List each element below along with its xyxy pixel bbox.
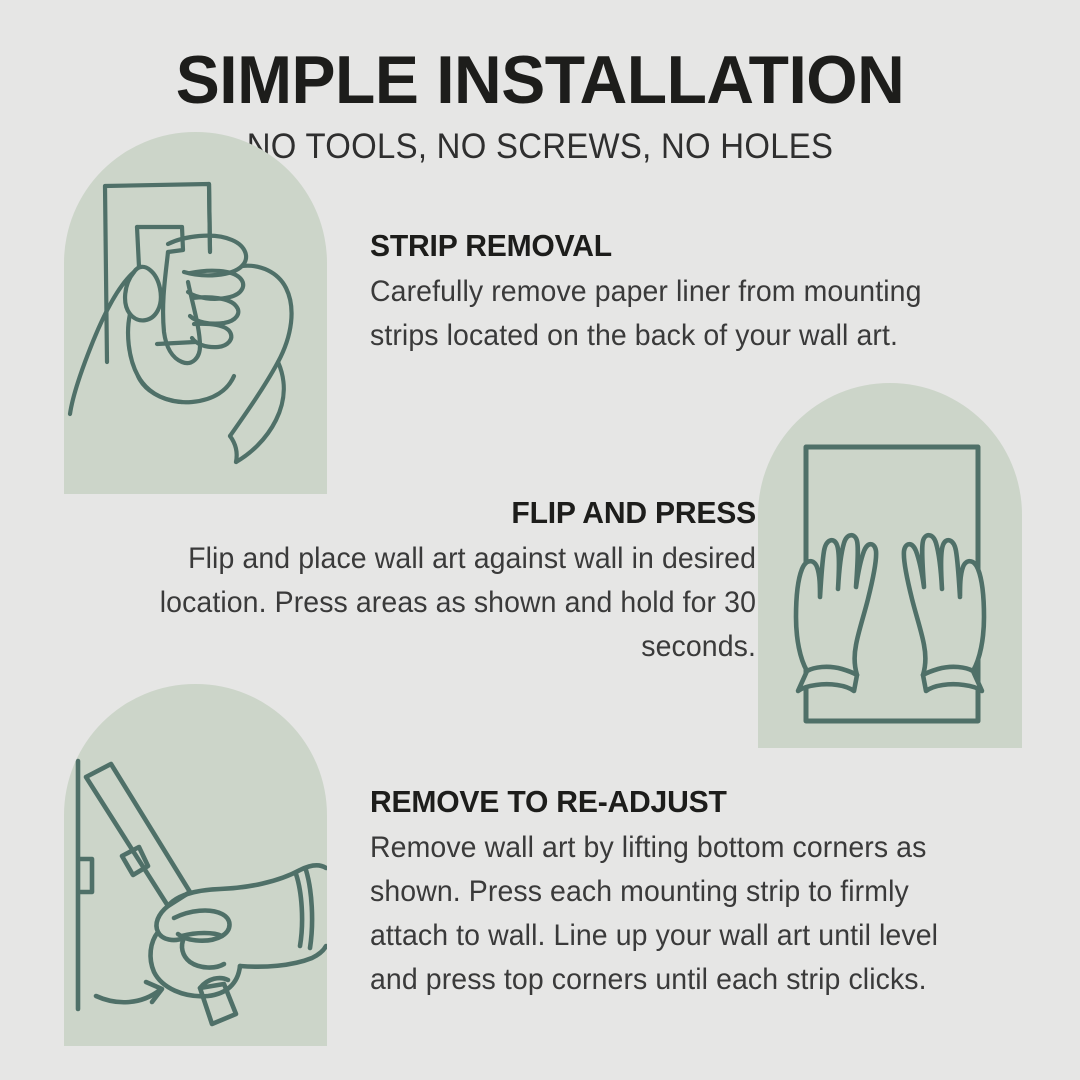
- step-2-heading: FLIP AND PRESS: [127, 495, 756, 531]
- step-2-body: Flip and place wall art against wall in …: [131, 537, 756, 669]
- hand-lifting-corner-icon: [64, 684, 327, 1046]
- step-2-illustration-panel: [758, 383, 1022, 748]
- step-3-body: Remove wall art by lifting bottom corner…: [370, 826, 992, 1002]
- step-1-heading: STRIP REMOVAL: [370, 228, 991, 264]
- page-title: SIMPLE INSTALLATION: [16, 46, 1064, 114]
- step-3-illustration-panel: [64, 684, 327, 1046]
- step-3-heading: REMOVE TO RE-ADJUST: [370, 784, 996, 820]
- step-1-text: STRIP REMOVAL Carefully remove paper lin…: [370, 228, 1010, 358]
- step-1-illustration-panel: [64, 132, 327, 494]
- installation-infographic: SIMPLE INSTALLATION NO TOOLS, NO SCREWS,…: [0, 0, 1080, 1080]
- step-3-text: REMOVE TO RE-ADJUST Remove wall art by l…: [370, 784, 1015, 1002]
- step-2-text: FLIP AND PRESS Flip and place wall art a…: [108, 495, 756, 669]
- two-hands-pressing-frame-icon: [758, 383, 1022, 748]
- hand-peeling-liner-icon: [64, 132, 327, 494]
- step-1-body: Carefully remove paper liner from mounti…: [370, 270, 988, 358]
